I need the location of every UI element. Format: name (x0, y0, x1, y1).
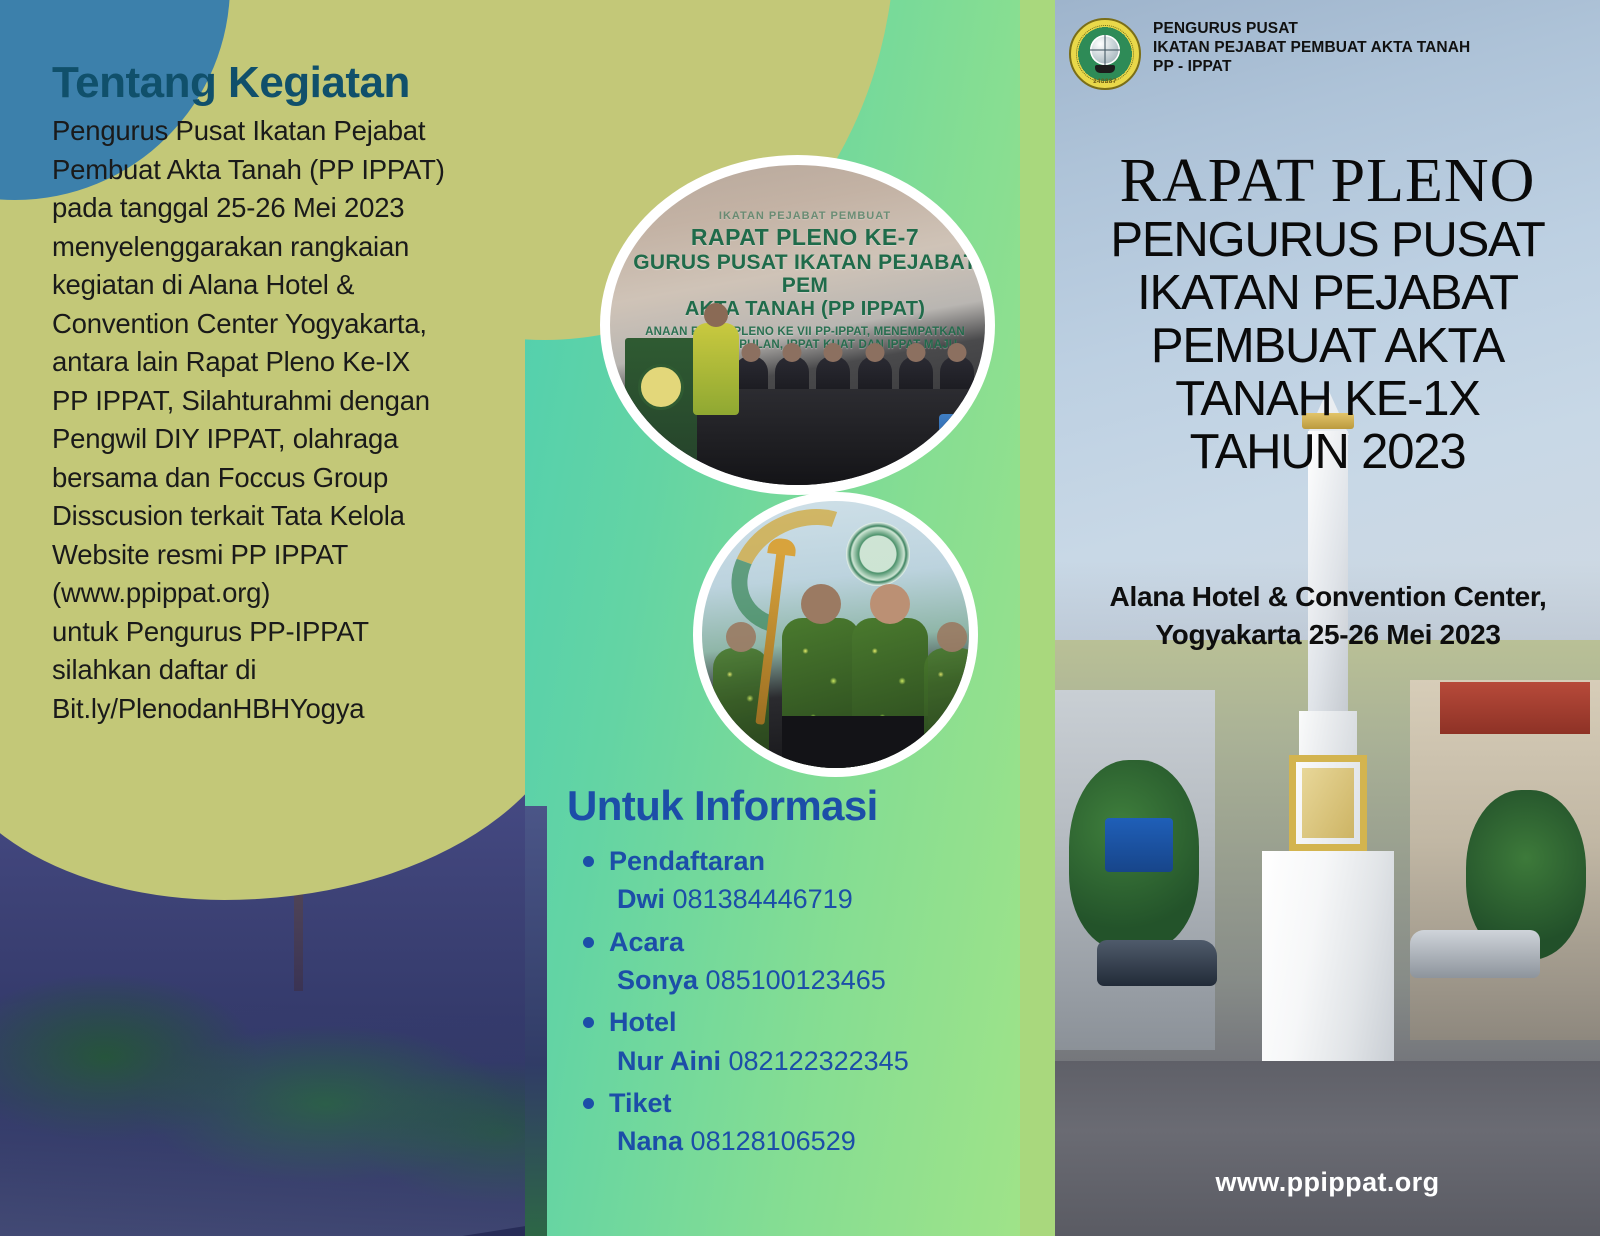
event-title-block: RAPAT PLENO PENGURUS PUSAT IKATAN PEJABA… (1055, 150, 1600, 479)
contact-role: Tiket (567, 1084, 1037, 1122)
photo-conference-inner: IKATAN PEJABAT PEMBUAT RAPAT PLENO KE-7 … (610, 165, 985, 485)
person-official-male (782, 618, 860, 768)
poster-canvas: Tentang Kegiatan Pengurus Pusat Ikatan P… (0, 0, 1600, 1236)
contact-phone: 082122322345 (729, 1046, 909, 1076)
website-url[interactable]: www.ppippat.org (1055, 1167, 1600, 1198)
event-title-primary: RAPAT PLENO (1055, 150, 1600, 212)
list-item: Pendaftaran Dwi 081384446719 (567, 842, 1037, 919)
org-line-3: PP - IPPAT (1153, 58, 1470, 77)
car-left (1097, 940, 1217, 986)
information-title: Untuk Informasi (567, 782, 1037, 830)
globe-icon (1090, 35, 1120, 65)
contact-name: Nur Aini (617, 1046, 721, 1076)
about-title: Tentang Kegiatan (52, 60, 522, 106)
venue-details: Alana Hotel & Convention Center, Yogyaka… (1089, 578, 1567, 653)
left-panel: Tentang Kegiatan Pengurus Pusat Ikatan P… (0, 0, 525, 1236)
about-body-text: Pengurus Pusat Ikatan Pejabat Pembuat Ak… (52, 112, 522, 728)
conference-podium (625, 338, 697, 485)
contact-name: Sonya (617, 965, 698, 995)
organization-header: 240887 PENGURUS PUSAT IKATAN PEJABAT PEM… (1055, 18, 1600, 90)
contact-details: Nur Aini 082122322345 (567, 1042, 1037, 1080)
monument-base (1262, 851, 1394, 1061)
banner-line-1: IKATAN PEJABAT PEMBUAT (633, 210, 978, 222)
org-line-1: PENGURUS PUSAT (1153, 20, 1470, 39)
red-roof (1440, 682, 1590, 734)
contact-phone: 081384446719 (673, 884, 853, 914)
conference-speaker (693, 323, 739, 415)
banner-line-2: RAPAT PLENO KE-7 (633, 225, 978, 251)
contact-phone: 085100123465 (706, 965, 886, 995)
monument-plaque (1289, 755, 1367, 851)
person-official-female (852, 618, 928, 768)
contact-name: Dwi (617, 884, 665, 914)
banner-line-3: GURUS PUSAT IKATAN PEJABAT PEM (633, 251, 978, 298)
event-title-secondary: PENGURUS PUSAT IKATAN PEJABAT PEMBUAT AK… (1055, 214, 1600, 479)
monument-neck (1299, 711, 1357, 759)
street-photo-edge (525, 806, 547, 1236)
about-section: Tentang Kegiatan Pengurus Pusat Ikatan P… (52, 60, 522, 728)
photo-conference-panel: IKATAN PEJABAT PEMBUAT RAPAT PLENO KE-7 … (600, 155, 995, 495)
person-side-right (924, 648, 969, 768)
contact-role: Hotel (567, 1003, 1037, 1041)
banner-line-4: AKTA TANAH (PP IPPAT) (633, 298, 978, 320)
contact-role: Acara (567, 923, 1037, 961)
right-panel: 240887 PENGURUS PUSAT IKATAN PEJABAT PEM… (1055, 0, 1600, 1236)
conference-banner-roll (939, 414, 959, 472)
car-right (1410, 930, 1540, 978)
tugu-monument (1262, 851, 1394, 1061)
list-item: Acara Sonya 085100123465 (567, 923, 1037, 1000)
org-line-2: IKATAN PEJABAT PEMBUAT AKTA TANAH (1153, 39, 1470, 58)
street-sign-icon (1105, 818, 1173, 872)
middle-panel: IKATAN PEJABAT PEMBUAT RAPAT PLENO KE-7 … (525, 0, 1055, 1236)
photo-batik-officials (693, 492, 978, 777)
logo-number: 240887 (1093, 79, 1117, 85)
information-section: Untuk Informasi Pendaftaran Dwi 08138444… (567, 782, 1037, 1165)
contact-details: Sonya 085100123465 (567, 961, 1037, 999)
contact-list: Pendaftaran Dwi 081384446719 Acara Sonya… (567, 842, 1037, 1161)
organization-name: PENGURUS PUSAT IKATAN PEJABAT PEMBUAT AK… (1153, 18, 1470, 77)
contact-details: Nana 08128106529 (567, 1122, 1037, 1160)
contact-name: Nana (617, 1126, 683, 1156)
contact-role: Pendaftaran (567, 842, 1037, 880)
contact-details: Dwi 081384446719 (567, 880, 1037, 918)
list-item: Hotel Nur Aini 082122322345 (567, 1003, 1037, 1080)
list-item: Tiket Nana 08128106529 (567, 1084, 1037, 1161)
ippat-logo-icon: 240887 (1069, 18, 1141, 90)
road-foreground (1055, 1061, 1600, 1236)
contact-phone: 08128106529 (691, 1126, 856, 1156)
book-icon (1095, 65, 1115, 73)
photo-batik-inner (702, 501, 969, 768)
